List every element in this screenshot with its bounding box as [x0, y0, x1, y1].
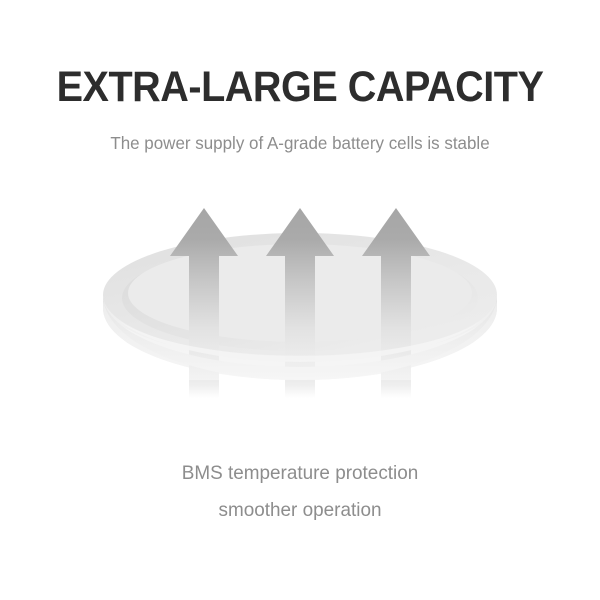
page-title: EXTRA-LARGE CAPACITY: [24, 62, 576, 112]
footer-line-1: BMS temperature protection: [9, 455, 591, 492]
subtitle: The power supply of A-grade battery cell…: [9, 131, 591, 155]
footer-copy: BMS temperature protection smoother oper…: [0, 455, 600, 529]
capacity-illustration: [0, 190, 600, 415]
footer-line-2: smoother operation: [9, 492, 591, 529]
promo-banner: EXTRA-LARGE CAPACITY The power supply of…: [0, 0, 600, 600]
disc-and-arrows-graphic: [0, 190, 600, 415]
